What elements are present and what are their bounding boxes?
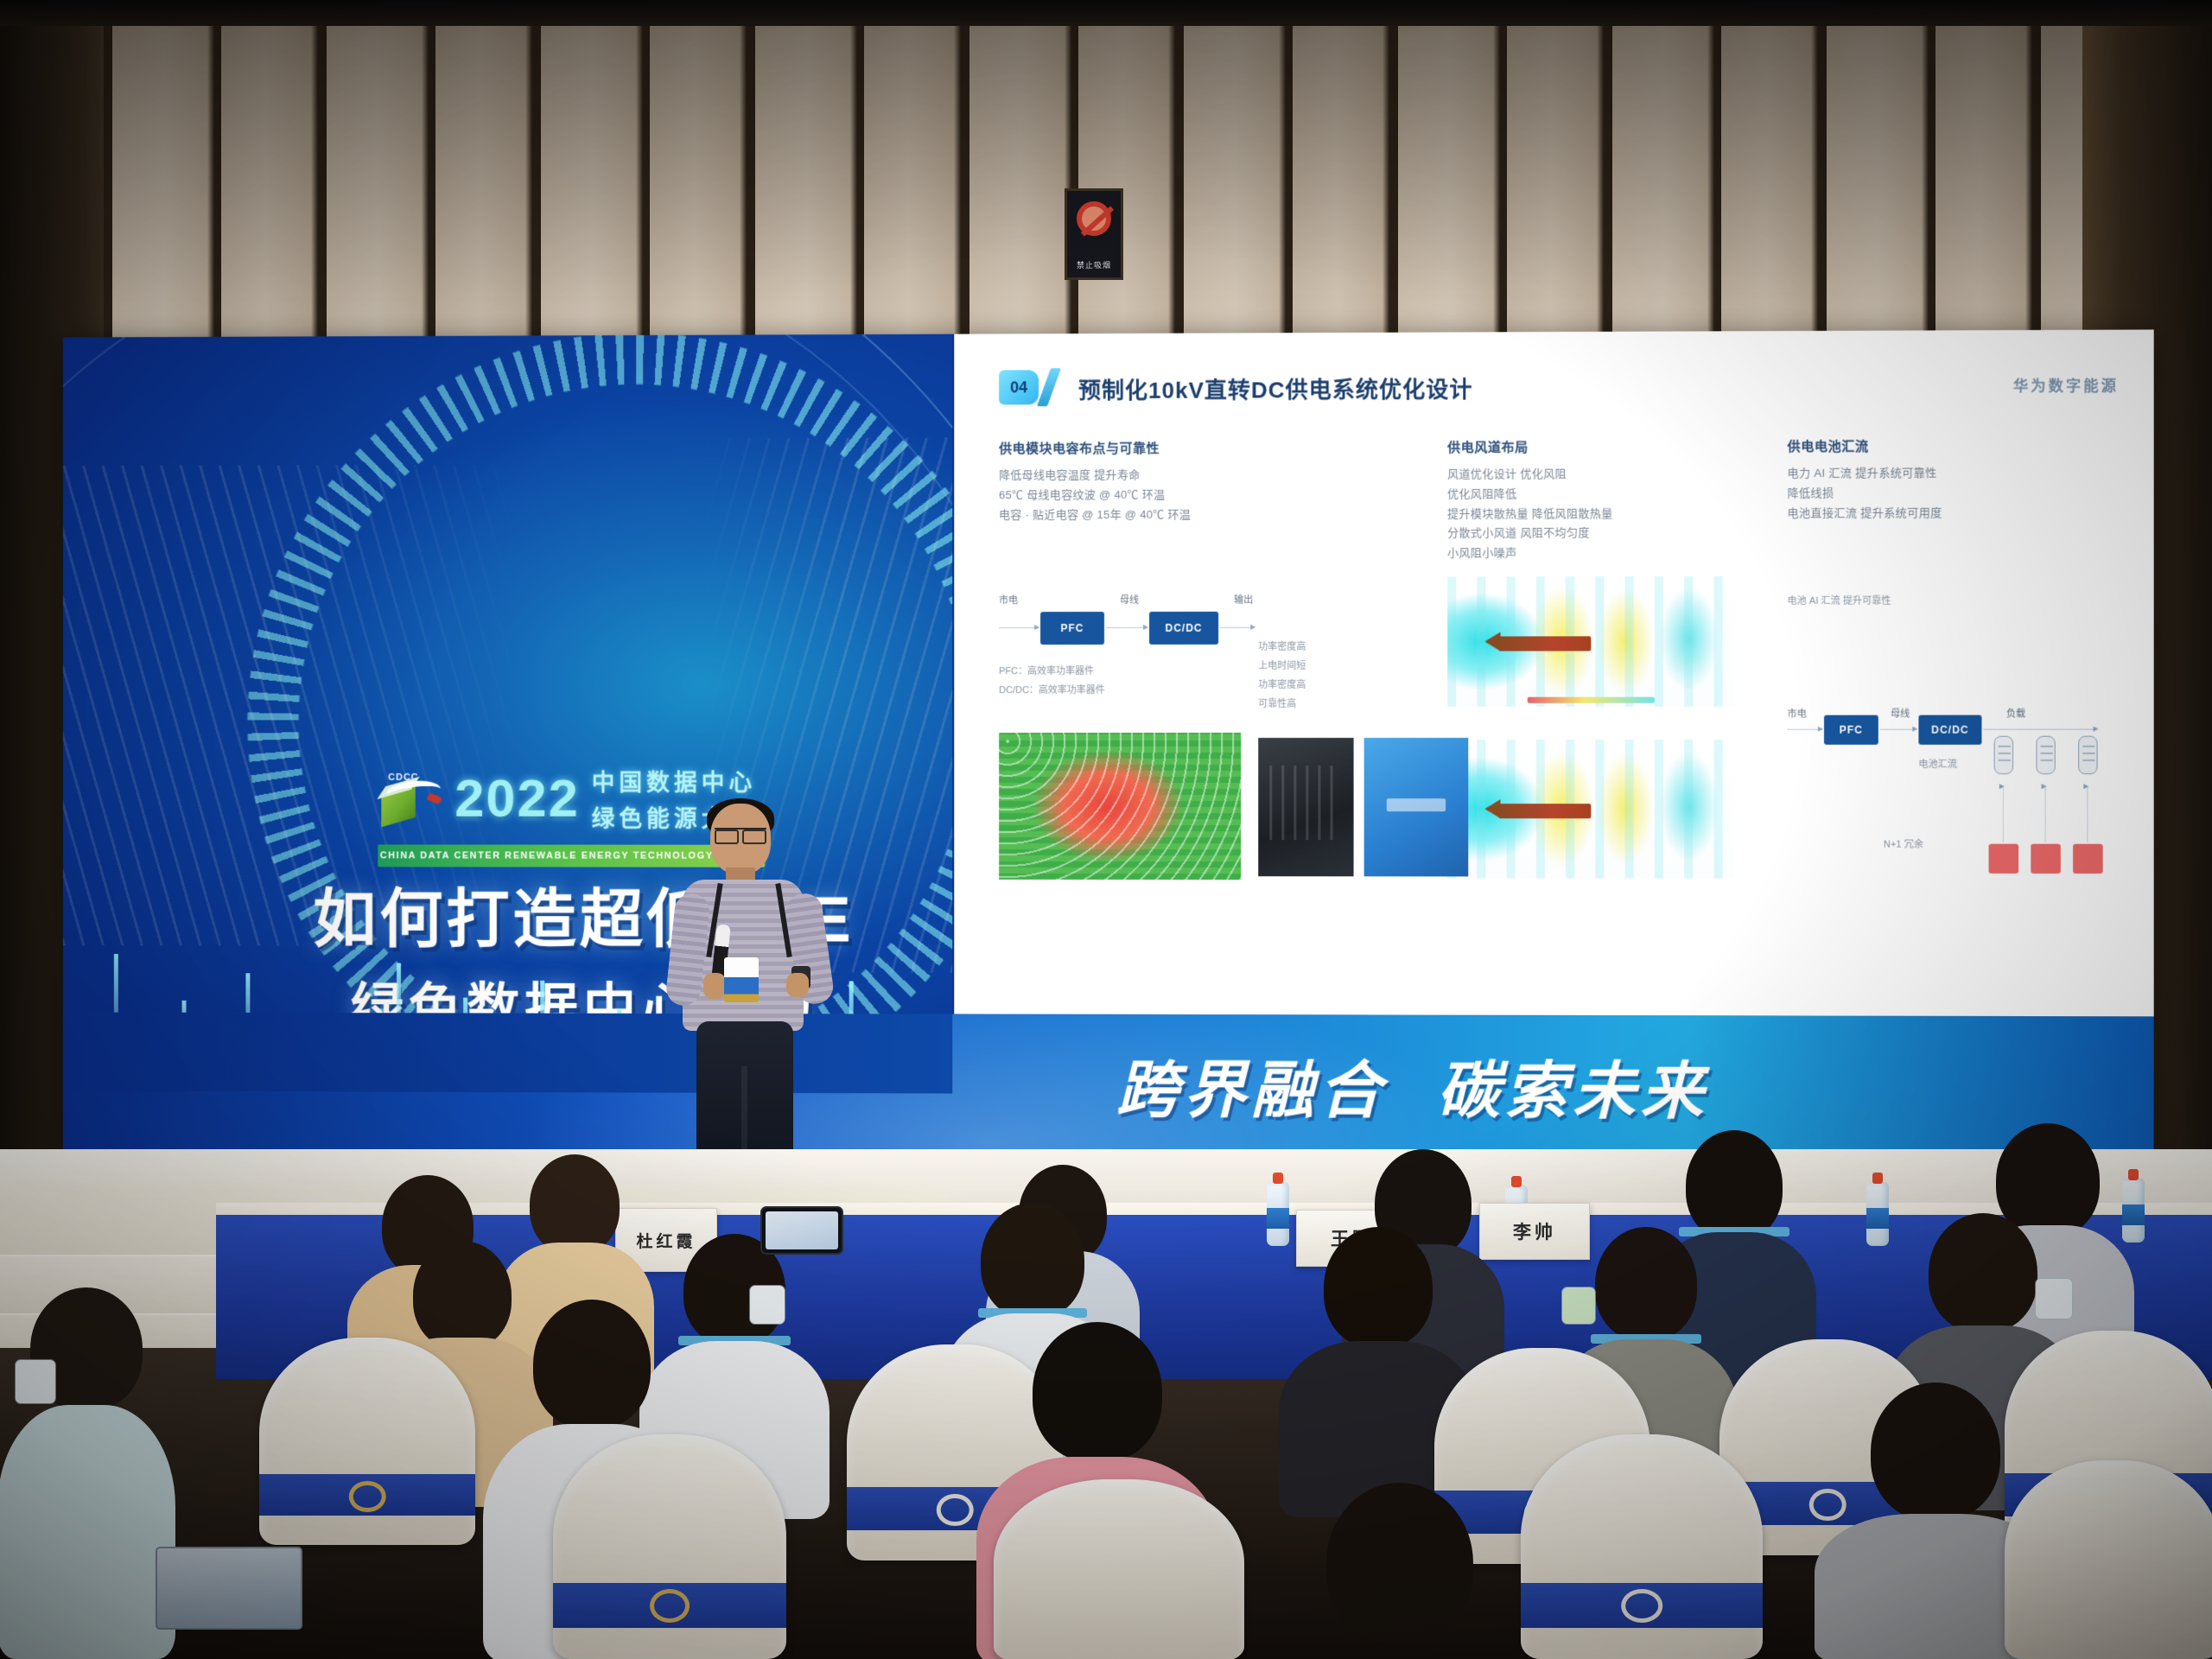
presenter-badge <box>724 957 759 1002</box>
blue-render-thumbnail <box>1364 738 1469 877</box>
person-head <box>1871 1382 2000 1521</box>
face-mask <box>16 1360 55 1403</box>
audience-chair <box>2005 1460 2212 1659</box>
person-head <box>1324 1227 1433 1348</box>
diagram1-bullet-3: 功率密度高 <box>1258 677 1306 691</box>
audience-person <box>1270 1483 1529 1659</box>
audience-chair <box>553 1434 786 1659</box>
face-mask <box>1562 1287 1595 1324</box>
diagram2-load-3 <box>2073 844 2103 874</box>
column-1-line-3: 电容 · 贴近电容 @ 15年 @ 40℃ 环温 <box>999 505 1414 525</box>
slogan-right: 碳索未来 <box>1437 1039 1708 1131</box>
face-mask <box>750 1286 785 1324</box>
diagram1-bullet-1: 功率密度高 <box>1258 639 1306 653</box>
person-head <box>1929 1213 2037 1332</box>
presenter <box>665 804 829 1166</box>
no-smoking-icon <box>1077 201 1111 236</box>
slide-title: 预制化10kV直转DC供电系统优化设计 <box>1078 372 1473 406</box>
slide-brand-logo: 华为数字能源 <box>2013 373 2119 396</box>
cfd-thermal-top: 模块风道流场云图 <box>1447 576 1735 707</box>
diagram2-module-1 <box>1994 736 2013 774</box>
chair-ring-buckle <box>1621 1589 1662 1623</box>
cfd-bottom-flow-arrow <box>1499 804 1591 819</box>
column-2-line-4: 分散式小风道 风阻不均匀度 <box>1447 524 1752 544</box>
person-head <box>530 1154 620 1255</box>
conference-photo: 禁止吸烟 CDCC 2022 中国数据中心 绿色能源大会 <box>0 0 2212 1659</box>
chair-ring-buckle <box>937 1494 974 1527</box>
diagram2-load-2 <box>2031 844 2061 874</box>
audience-chair <box>259 1338 475 1545</box>
sign-caption: 禁止吸烟 <box>1067 259 1121 270</box>
phone-screen <box>766 1211 838 1249</box>
presenter-legs <box>696 1021 793 1166</box>
event-slogan: 跨界融合 碳索未来 <box>1116 1039 1709 1131</box>
slogan-left: 跨界融合 <box>1116 1039 1387 1130</box>
chair-back <box>2005 1460 2212 1659</box>
diagram1-note-1: PFC：高效率功率器件 <box>999 664 1094 677</box>
audience-person <box>0 1287 173 1659</box>
person-head <box>1595 1227 1697 1341</box>
column-3-heading: 供电电池汇流 <box>1788 436 2121 455</box>
column-2-line-2: 优化风阻降低 <box>1447 484 1752 505</box>
cdcc-logo-icon: CDCC <box>378 772 442 825</box>
cfd-top-colorbar <box>1528 697 1654 703</box>
person-head <box>1686 1130 1783 1241</box>
diagram2-module-3 <box>2078 736 2097 774</box>
diagram2-output-label: 负载 <box>2006 706 2025 720</box>
photo-module-thumbnail <box>1258 738 1353 876</box>
presenter-hand-right <box>786 973 809 997</box>
column-3-line-3: 电池直接汇流 提升系统可用度 <box>1788 503 2121 524</box>
diagram2-module-2 <box>2036 736 2055 774</box>
diagram2-note: 电池汇流 <box>1918 757 1957 771</box>
diagram1-block-dcdc: DC/DC <box>1149 612 1218 645</box>
slide-section-accent <box>1037 368 1061 406</box>
diagram1-block-pfc: PFC <box>1040 612 1104 645</box>
person-head <box>981 1203 1084 1319</box>
chair-ring-buckle <box>650 1589 690 1623</box>
person-head <box>1326 1483 1473 1643</box>
chair-back <box>994 1479 1244 1659</box>
slide-header: 04 预制化10kV直转DC供电系统优化设计 华为数字能源 <box>999 361 2119 415</box>
logo-year: 2022 <box>454 772 579 825</box>
person-body <box>0 1405 175 1659</box>
diagram1-bullet-2: 上电时间短 <box>1258 658 1306 672</box>
face-mask <box>2036 1279 2072 1319</box>
tablet-device[interactable] <box>156 1547 302 1630</box>
audience-chair <box>1521 1434 1763 1659</box>
column-1-line-2: 65℃ 母线电容纹波 @ 40℃ 环温 <box>999 485 1414 505</box>
diagram1-input-label: 市电 <box>999 593 1018 607</box>
cfd-top-flow-arrow <box>1499 636 1591 651</box>
diagram2-input-label: 市电 <box>1788 707 1807 721</box>
chair-ring-buckle <box>349 1481 386 1512</box>
smartphone-recording[interactable] <box>760 1206 843 1255</box>
diagram2-mid-label: 母线 <box>1891 707 1910 721</box>
person-head <box>533 1300 651 1429</box>
column-1-heading: 供电模块电容布点与可靠性 <box>999 438 1414 457</box>
no-smoking-sign: 禁止吸烟 <box>1065 188 1123 280</box>
person-head <box>1033 1322 1162 1462</box>
ceiling <box>0 0 2212 26</box>
cfd-thermal-bottom <box>1447 740 1735 879</box>
column-1-line-1: 降低母线电容温度 提升寿命 <box>999 465 1414 486</box>
diagram2-block-pfc: PFC <box>1824 715 1878 745</box>
column-2-line-3: 提升模块散热量 降低风阻散热量 <box>1447 504 1752 524</box>
glasses-icon <box>715 828 766 839</box>
density-map-figure <box>999 733 1241 880</box>
slide-column-2: 供电风道布局 风道优化设计 优化风阻 优化风阻降低 提升模块散热量 降低风阻散热… <box>1447 437 1752 563</box>
slide-column-1: 供电模块电容布点与可靠性 降低母线电容温度 提升寿命 65℃ 母线电容纹波 @ … <box>999 438 1414 525</box>
diagram2-bullet-1: 电池 AI 汇流 提升可靠性 <box>1788 592 1891 612</box>
column-2-line-1: 风道优化设计 优化风阻 <box>1447 464 1752 485</box>
presenter-hand-left <box>703 973 726 999</box>
diagram1-note-2: DC/DC：高效率功率器件 <box>999 683 1105 696</box>
diagram1-mid-label: 母线 <box>1120 593 1139 607</box>
column-2-heading: 供电风道布局 <box>1447 437 1752 456</box>
column-2-line-5: 小风阻小噪声 <box>1447 543 1752 563</box>
placard-3-text: 李帅 <box>1513 1218 1556 1244</box>
logo-cn-line1: 中国数据中心 <box>592 764 757 798</box>
diagram1-bullet-4: 可靠性高 <box>1258 696 1296 710</box>
slide-section-number: 04 <box>999 370 1039 404</box>
density-map-dots <box>999 733 1241 880</box>
column-3-line-1: 电力 AI 汇流 提升系统可靠性 <box>1788 463 2121 484</box>
diagram2-block-dcdc: DC/DC <box>1918 715 1981 745</box>
slide-column-3: 供电电池汇流 电力 AI 汇流 提升系统可靠性 降低线损 电池直接汇流 提升系统… <box>1788 436 2121 524</box>
diagram2-load-1 <box>1989 844 2019 874</box>
block-diagram-2: 市电 PFC 母线 DC/DC 负载 电池汇流 N+1 冗余 <box>1788 706 2121 906</box>
diagram2-footnote: N+1 冗余 <box>1884 837 1923 851</box>
column-3-line-2: 降低线损 <box>1788 483 2121 504</box>
diagram1-output-label: 输出 <box>1234 593 1253 607</box>
block-diagram-1: 市电 PFC 母线 DC/DC 输出 PFC：高效率功率器件 DC/DC：高效率… <box>999 592 1397 696</box>
audience-chair <box>994 1479 1244 1659</box>
led-screen: CDCC 2022 中国数据中心 绿色能源大会 CHINA DATA CENTE… <box>63 329 2154 1207</box>
presentation-slide: 04 预制化10kV直转DC供电系统优化设计 华为数字能源 供电模块电容布点与可… <box>954 329 2153 1016</box>
